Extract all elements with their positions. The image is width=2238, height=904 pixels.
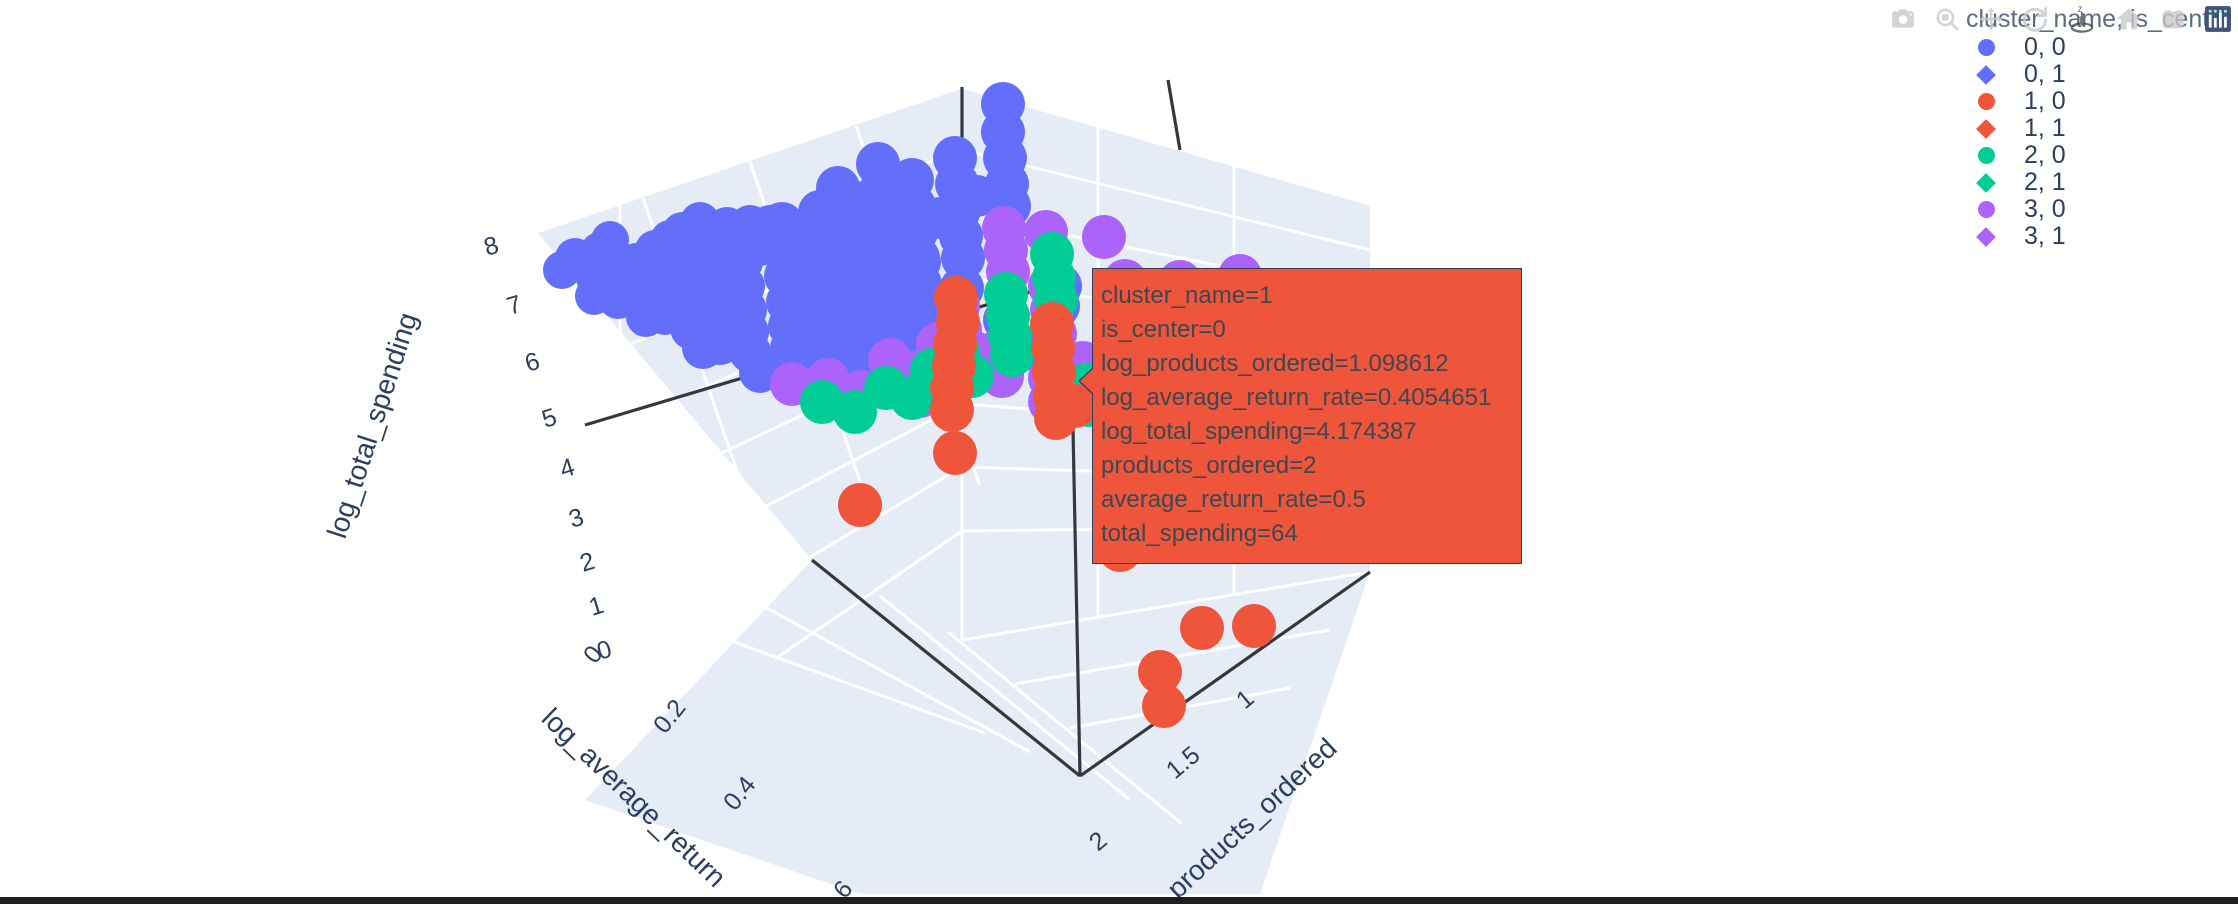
hover-tooltip: cluster_name=1 is_center=0 log_products_… (1092, 268, 1522, 564)
legend-swatch-circle-icon (1966, 147, 2006, 164)
legend-item-2-1[interactable]: 2, 1 (1966, 169, 2238, 196)
svg-text:1: 1 (2077, 16, 2083, 27)
tooltip-line-average-return-rate: average_return_rate=0.5 (1101, 483, 1521, 517)
orbital-rotate-icon[interactable] (2158, 4, 2188, 34)
legend-label: 0, 0 (2024, 34, 2066, 61)
legend-item-0-0[interactable]: 0, 0 (1966, 34, 2238, 61)
svg-text:7: 7 (504, 290, 525, 321)
legend: cluster_name, is_center 0, 0 0, 1 1, 0 1… (1966, 4, 2238, 250)
svg-text:6: 6 (522, 347, 543, 378)
plotly-logo-icon[interactable] (2202, 4, 2234, 34)
browser-bottom-chrome (0, 897, 2238, 904)
tooltip-line-total-spending: total_spending=64 (1101, 517, 1521, 551)
svg-text:3: 3 (566, 503, 587, 534)
legend-item-3-1[interactable]: 3, 1 (1966, 223, 2238, 250)
svg-text:1: 1 (586, 591, 607, 622)
legend-label: 1, 0 (2024, 88, 2066, 115)
legend-item-1-1[interactable]: 1, 1 (1966, 115, 2238, 142)
tooltip-line-log-products-ordered: log_products_ordered=1.098612 (1101, 347, 1521, 381)
tooltip-line-is-center: is_center=0 (1101, 313, 1521, 347)
z-axis-title: log_total_spending (321, 309, 423, 542)
tooltip-line-log-total-spending: log_total_spending=4.174387 (1101, 415, 1521, 449)
tooltip-arrow (1080, 368, 1094, 394)
legend-item-2-0[interactable]: 2, 0 (1966, 142, 2238, 169)
legend-item-0-1[interactable]: 0, 1 (1966, 61, 2238, 88)
legend-swatch-diamond-icon (1966, 230, 2006, 244)
svg-text:8: 8 (481, 231, 502, 262)
svg-text:4: 4 (557, 453, 579, 484)
home-icon[interactable] (2114, 4, 2144, 34)
legend-swatch-diamond-icon (1966, 176, 2006, 190)
svg-text:5: 5 (539, 403, 560, 434)
legend-swatch-circle-icon (1966, 201, 2006, 218)
svg-text:2: 2 (577, 547, 598, 578)
legend-item-3-0[interactable]: 3, 0 (1966, 196, 2238, 223)
legend-item-1-0[interactable]: 1, 0 (1966, 88, 2238, 115)
camera-icon[interactable] (1888, 4, 1918, 34)
legend-label: 3, 0 (2024, 196, 2066, 223)
tooltip-line-cluster-name: cluster_name=1 (1101, 279, 1521, 313)
plotly-3d-scatter-app: 8 7 6 5 4 3 2 1 0 log_total_spending 0 0… (0, 0, 2238, 904)
legend-label: 3, 1 (2024, 223, 2066, 250)
legend-swatch-circle-icon (1966, 39, 2006, 56)
pan-arrows-icon[interactable] (1976, 4, 2006, 34)
zoom-box-icon[interactable] (1932, 4, 1962, 34)
modebar: z 1 (1888, 0, 2238, 38)
legend-label: 2, 1 (2024, 169, 2066, 196)
tooltip-line-log-average-return-rate: log_average_return_rate=0.4054651 (1101, 381, 1521, 415)
legend-swatch-circle-icon (1966, 93, 2006, 110)
legend-swatch-diamond-icon (1966, 68, 2006, 82)
turntable-rotate-icon[interactable]: z 1 (2064, 4, 2100, 34)
legend-swatch-diamond-icon (1966, 122, 2006, 136)
legend-label: 0, 1 (2024, 61, 2066, 88)
legend-label: 2, 0 (2024, 142, 2066, 169)
tooltip-line-products-ordered: products_ordered=2 (1101, 449, 1521, 483)
reset-camera-icon[interactable] (2020, 4, 2050, 34)
legend-label: 1, 1 (2024, 115, 2066, 142)
